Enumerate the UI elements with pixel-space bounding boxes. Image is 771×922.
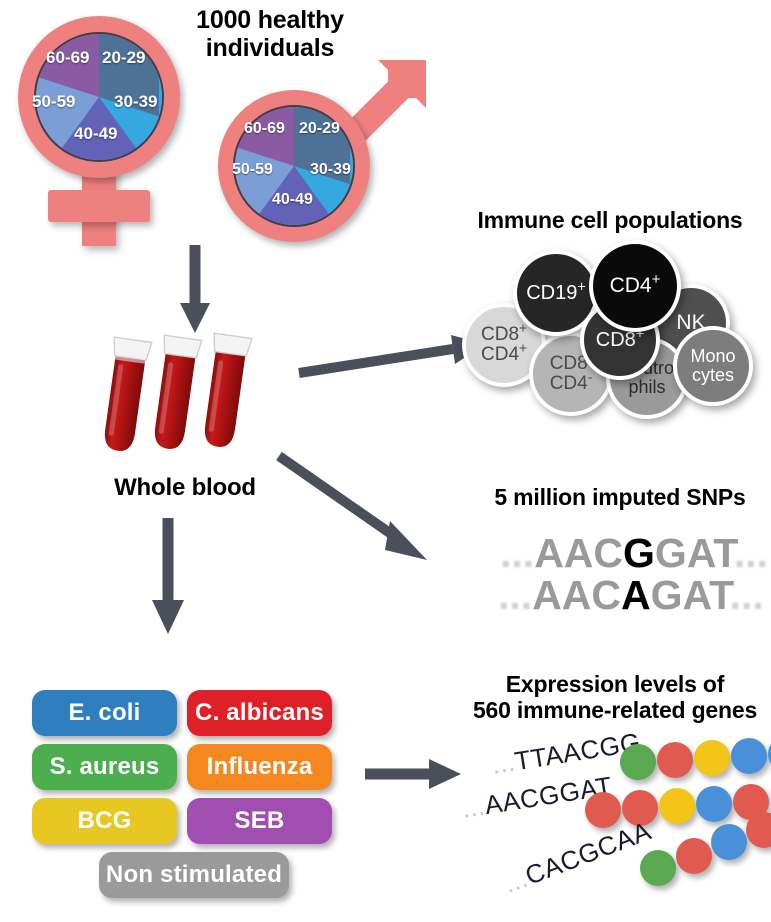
arrow-blood-to-snps [275,450,465,590]
stimulus-c-albicans[interactable]: C. albicans [187,690,332,736]
pie-label-50-59: 50-59 [32,92,75,112]
stimulus-seb-label: SEB [235,807,285,835]
stimulus-influenza-label: Influenza [207,753,313,781]
snp-trail-dots: ... [734,530,768,576]
strand-3-bases: CACGCAA [521,815,655,890]
pie-label-20-29: 20-29 [102,48,145,68]
immune-cells-cluster: CD8+ CD4+ CD19+ CD4+ NK CD8+ CD8- CD4- N… [460,240,760,420]
bead [620,744,656,780]
snp-prefix: AAC [534,530,623,576]
bead [746,812,771,848]
whole-blood-tubes [100,330,270,460]
strand-1-sequence: ...TTAACGG [490,727,643,781]
snp-sequence-allele-a: ...AACAGAT... [498,572,764,619]
cell-cd8-cd4-neg-line2: CD4- [550,374,593,394]
stimulus-bcg-label: BCG [78,807,132,835]
pie-label-50-59: 50-59 [232,161,273,179]
stimulus-seb[interactable]: SEB [187,798,332,844]
snp-suffix: GAT [651,572,730,618]
snp-suffix: GAT [655,530,734,576]
snp-sequence-allele-g: ...AACGGAT... [500,530,768,577]
strand-3-sequence: ...CACGCAA [499,815,655,900]
stimulus-non-stimulated[interactable]: Non stimulated [99,852,289,898]
cell-monocytes-line1: Mono [690,347,735,366]
pie-label-30-39: 30-39 [310,161,351,179]
bead [640,850,676,886]
arrow-blood-to-stimuli [148,518,188,638]
snps-heading: 5 million imputed SNPs [470,485,770,511]
female-symbol: 20-29 30-39 40-49 50-59 60-69 [10,12,210,252]
female-symbol-cross [48,190,150,222]
pie-label-40-49: 40-49 [74,124,117,144]
bead [696,786,732,822]
pie-label-60-69: 60-69 [244,120,285,138]
stimulus-e-coli-label: E. coli [68,699,140,727]
bead [711,824,747,860]
cell-cd8-label: CD8+ [596,330,644,351]
whole-blood-label: Whole blood [85,475,285,502]
cell-neutrophils-line2: phils [620,378,674,397]
expression-heading: Expression levels of 560 immune-related … [462,672,768,724]
cell-monocytes-line2: cytes [690,366,735,385]
cell-cd4-label: CD4+ [610,275,661,297]
pie-label-20-29: 20-29 [299,120,340,138]
stimulus-s-aureus[interactable]: S. aureus [32,744,177,790]
expression-strands: ...TTAACGG ...AACGGAT ...CACGCAA [440,730,771,915]
expression-heading-line2: 560 immune-related genes [462,698,768,724]
cell-cd8-cd4-pos-line2: CD4+ [481,345,527,365]
male-symbol: 20-29 30-39 40-49 50-59 60-69 [200,60,430,260]
stimulus-non-stimulated-label: Non stimulated [106,861,282,889]
cell-monocytes: Mono cytes [673,326,753,406]
cell-cd19-label: CD19+ [526,283,586,304]
stimulus-influenza[interactable]: Influenza [187,744,332,790]
pie-label-40-49: 40-49 [272,191,313,209]
bead [657,742,693,778]
cell-cd4: CD4+ [589,240,681,332]
bead [676,838,712,874]
snp-lead-dots: ... [500,530,534,576]
snp-trail-dots: ... [730,572,764,618]
snp-lead-dots: ... [498,572,532,618]
bead [731,738,767,774]
stimulus-e-coli[interactable]: E. coli [32,690,177,736]
bead [694,740,730,776]
snp-variant-a: A [621,572,651,618]
strand-3: ...CACGCAA [495,818,771,878]
snp-variant-g: G [623,530,655,576]
pie-label-30-39: 30-39 [114,92,157,112]
pie-label-60-69: 60-69 [46,48,89,68]
arrow-cohort-to-blood [175,245,215,337]
snp-prefix: AAC [532,572,621,618]
stimulus-s-aureus-label: S. aureus [50,753,160,781]
immune-cells-heading: Immune cell populations [450,208,770,234]
stimulus-c-albicans-label: C. albicans [195,699,324,727]
expression-heading-line1: Expression levels of [462,672,768,698]
stimulus-bcg[interactable]: BCG [32,798,177,844]
